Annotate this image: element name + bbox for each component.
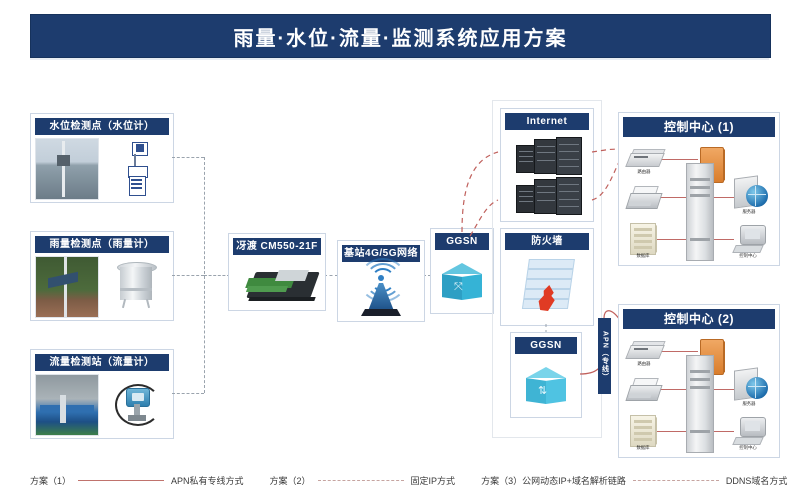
legend-text-3: DDNS域名方式 xyxy=(726,474,788,487)
sensor-body-flow xyxy=(35,374,169,436)
rain-gauge-station-photo xyxy=(35,256,99,318)
globe-server-icon xyxy=(734,369,772,401)
firewall-body xyxy=(505,253,589,323)
flow-station-photo xyxy=(35,374,99,436)
cc2-node-label-control-center: 控制中心 xyxy=(729,445,767,451)
connector-bus-to-logger xyxy=(204,275,230,276)
switch-icon xyxy=(626,377,660,403)
sensor-card-flow[interactable]: 流量检测站（流量计） xyxy=(30,349,174,439)
control-center-2-body: 路由器 数据库 服务器 控制中心 xyxy=(624,333,774,457)
internet-card[interactable]: Internet xyxy=(500,108,594,222)
data-logger-icon xyxy=(241,264,319,304)
legend-scheme-1: 方案（1） xyxy=(30,474,71,487)
database-icon xyxy=(628,413,658,447)
legend-text-1: APN私有专线方式 xyxy=(171,474,244,487)
legend-scheme-2: 方案（2） xyxy=(270,474,311,487)
internet-title: Internet xyxy=(505,113,589,130)
legend-scheme-3: 方案（3）公网动态IP+域名解析链路 xyxy=(481,474,626,487)
rain-gauge-icon xyxy=(103,256,169,318)
legend-line-dashed-2 xyxy=(633,480,719,481)
cc2-node-label-router: 路由器 xyxy=(625,361,663,367)
control-center-2-card[interactable]: 控制中心 (2) 路由器 数据库 xyxy=(618,304,780,458)
server-rack-icon xyxy=(516,137,582,173)
water-level-meter-icon xyxy=(103,138,169,200)
datalogger-title: 冴渡 CM550-21F 数采仪 xyxy=(233,238,321,255)
control-center-1-title: 控制中心 (1) xyxy=(623,117,775,137)
sensor-title-flow: 流量检测站（流量计） xyxy=(35,354,169,371)
sensor-title-rainfall: 雨量检测点（雨量计） xyxy=(35,236,169,253)
switch-icon xyxy=(626,185,660,211)
connector-logger-to-tower xyxy=(324,275,338,276)
pc-icon xyxy=(734,417,768,447)
legend-item-2: 方案（2） 固定IP方式 xyxy=(270,474,456,487)
connector-flow-to-bus xyxy=(172,393,204,394)
connector-water-to-bus xyxy=(172,157,204,158)
legend-line-solid xyxy=(78,480,164,481)
internet-body xyxy=(505,133,589,219)
control-center-1-body: 路由器 数据库 服务器 控制中心 xyxy=(624,141,774,265)
cell-tower-icon xyxy=(351,267,411,317)
base-station-card[interactable]: 基站4G/5G网络 xyxy=(337,240,425,322)
legend-line-dashed-1 xyxy=(318,480,404,481)
firewall-title: 防火墙 xyxy=(505,233,589,250)
legend: 方案（1） APN私有专线方式 方案（2） 固定IP方式 方案（3）公网动态IP… xyxy=(30,468,769,492)
server-rack-icon xyxy=(516,177,582,213)
cc1-link-router-brick xyxy=(660,159,698,160)
apn-label: APN（专线） xyxy=(598,318,611,394)
ggsn-upper-body: ⤧ xyxy=(435,253,489,311)
base-station-body xyxy=(342,265,420,319)
sensor-card-water-level[interactable]: 水位检测点（水位计） xyxy=(30,113,174,203)
pc-icon xyxy=(734,225,768,255)
flow-transmitter-icon xyxy=(103,374,169,436)
cc2-node-label-database: 数据库 xyxy=(624,445,662,451)
cc1-node-label-database: 数据库 xyxy=(624,253,662,259)
cc2-node-label-server: 服务器 xyxy=(730,401,768,407)
firewall-icon xyxy=(521,259,573,315)
globe-server-icon xyxy=(734,177,772,209)
legend-text-2: 固定IP方式 xyxy=(411,474,456,487)
control-center-1-card[interactable]: 控制中心 (1) 路由器 数据库 xyxy=(618,112,780,266)
cc1-node-label-router: 路由器 xyxy=(625,169,663,175)
apn-label-text: APN（专线） xyxy=(600,331,610,381)
sensor-body-rainfall xyxy=(35,256,169,318)
router-cube-icon: ⤧ xyxy=(442,263,482,303)
control-center-2-title: 控制中心 (2) xyxy=(623,309,775,329)
server-tower-icon xyxy=(686,355,712,451)
ggsn-upper-title: GGSN xyxy=(435,233,489,250)
datalogger-card[interactable]: 冴渡 CM550-21F 数采仪 xyxy=(228,233,326,311)
router-icon xyxy=(628,341,662,359)
page-title: 雨量·水位·流量·监测系统应用方案 xyxy=(234,22,568,51)
cc2-link-router-brick xyxy=(660,351,698,352)
sensor-body-water-level xyxy=(35,138,169,200)
cc1-node-label-control-center: 控制中心 xyxy=(729,253,767,259)
connector-rain-to-bus xyxy=(172,275,204,276)
legend-item-3: 方案（3）公网动态IP+域名解析链路 DDNS域名方式 xyxy=(481,474,787,487)
database-icon xyxy=(628,221,658,255)
server-tower-icon xyxy=(686,163,712,259)
diagram-page: 雨量·水位·流量·监测系统应用方案 水位检测点（水位计） 雨量检测点（雨量计） xyxy=(0,0,799,504)
ggsn-upper-card[interactable]: GGSN ⤧ xyxy=(430,228,494,314)
datalogger-body xyxy=(233,258,321,308)
sensor-title-water-level: 水位检测点（水位计） xyxy=(35,118,169,135)
legend-item-1: 方案（1） APN私有专线方式 xyxy=(30,474,244,487)
cc1-node-label-server: 服务器 xyxy=(730,209,768,215)
water-level-station-photo xyxy=(35,138,99,200)
router-icon xyxy=(628,149,662,167)
sensor-card-rainfall[interactable]: 雨量检测点（雨量计） xyxy=(30,231,174,321)
page-title-bar: 雨量·水位·流量·监测系统应用方案 xyxy=(30,14,771,58)
title-underline xyxy=(30,58,769,60)
firewall-card[interactable]: 防火墙 xyxy=(500,228,594,326)
